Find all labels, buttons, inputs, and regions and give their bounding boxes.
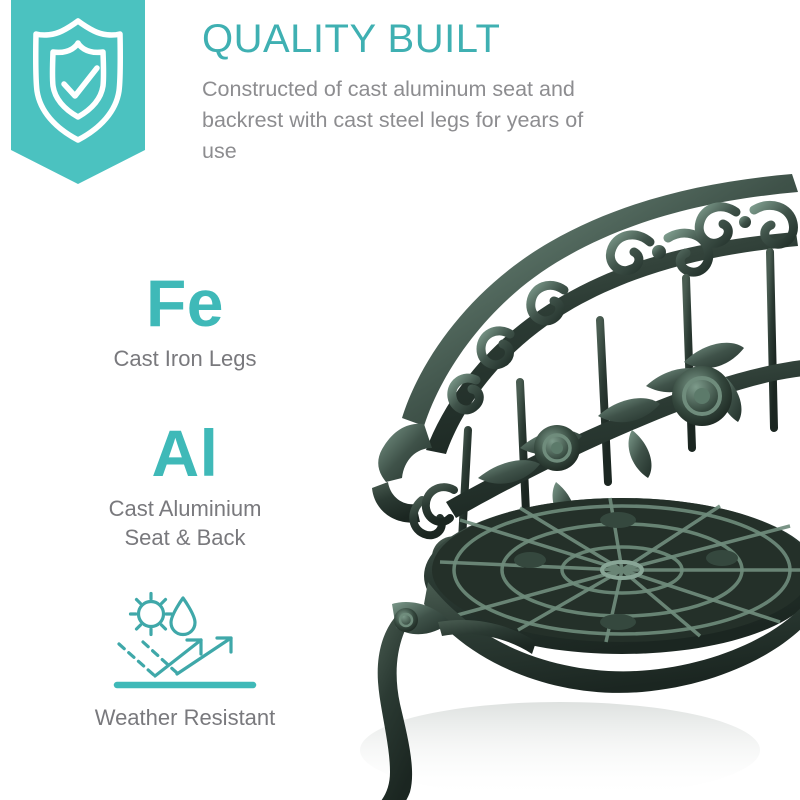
feature-weather-resistant: Weather Resistant	[35, 588, 335, 732]
floor-shadow	[360, 702, 760, 798]
leaf	[598, 398, 660, 422]
feature-cast-aluminium: Al Cast Aluminium Seat & Back	[35, 418, 335, 552]
bench-seat	[424, 498, 800, 693]
sun-icon	[139, 602, 164, 627]
leaf	[719, 374, 742, 422]
element-symbol-iron: Fe	[35, 268, 335, 338]
feature-label-weather-resistant: Weather Resistant	[35, 703, 335, 732]
bench-armrest	[372, 424, 462, 574]
rose-motif	[534, 366, 732, 471]
leaf	[684, 343, 744, 368]
water-droplet-icon	[171, 598, 195, 635]
heading-block: QUALITY BUILT Constructed of cast alumin…	[202, 16, 622, 167]
reflected-arrows	[155, 638, 231, 676]
leaf	[629, 430, 652, 478]
sun-rays	[131, 594, 172, 635]
bench-leg	[366, 602, 536, 800]
page-title: QUALITY BUILT	[202, 16, 622, 62]
leg-rose-motif	[394, 608, 418, 632]
feature-panel: QUALITY BUILT Constructed of cast alumin…	[0, 0, 800, 800]
scroll-knob	[652, 245, 666, 259]
leaf	[520, 430, 582, 454]
scroll-knob	[739, 216, 751, 228]
seat-centre-boss	[602, 562, 642, 578]
scroll	[754, 205, 793, 244]
heading-description: Constructed of cast aluminum seat and ba…	[202, 74, 594, 167]
feature-label-cast-iron-legs: Cast Iron Legs	[35, 344, 335, 373]
scroll	[610, 235, 650, 271]
leaf	[478, 460, 540, 484]
quality-badge-ribbon	[11, 0, 145, 184]
scroll	[699, 207, 736, 243]
incoming-rays	[119, 642, 177, 676]
product-image-garden-bench	[350, 130, 800, 800]
feature-label-cast-aluminium: Cast Aluminium Seat & Back	[35, 494, 335, 552]
rose-vine-band	[446, 343, 800, 530]
feature-cast-iron-legs: Fe Cast Iron Legs	[35, 268, 335, 373]
scroll	[481, 331, 510, 365]
leaf	[646, 368, 708, 392]
leaf	[553, 482, 576, 530]
scroll	[452, 378, 479, 410]
weather-resistant-icon	[35, 588, 335, 693]
bench-backrest	[402, 174, 800, 540]
element-symbol-aluminium: Al	[35, 418, 335, 488]
scroll	[668, 233, 709, 272]
scroll	[531, 285, 564, 321]
